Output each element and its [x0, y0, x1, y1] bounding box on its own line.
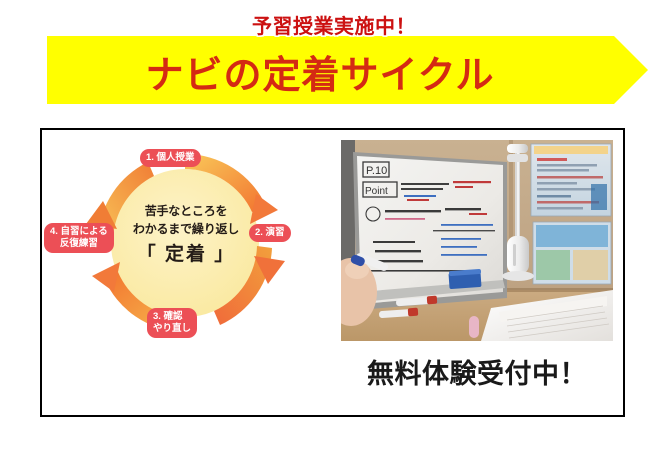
free-trial-caption: 無料体験受付中！ [341, 352, 613, 391]
svg-text:Point: Point [365, 186, 388, 197]
wall-poster-bottom [533, 222, 611, 284]
cycle-center-line2: わかるまで繰り返し [106, 220, 266, 238]
header-banner: 予習授業実施中！ ナビの定着サイクル [0, 0, 668, 120]
cycle-step-3-line2: やり直し [153, 323, 191, 334]
cycle-center-line1: 苦手なところを [106, 202, 266, 220]
cycle-step-3-line1: 3. 確認 [153, 311, 183, 322]
cycle-step-4-line1: 4. 自習による [50, 226, 108, 237]
whiteboard-eraser [448, 269, 481, 289]
cycle-step-4-label: 4. 自習による 反復練習 [44, 223, 114, 253]
cycle-step-4-line2: 反復練習 [60, 238, 98, 249]
headline-top-line: 予習授業実施中！ [0, 10, 668, 39]
svg-text:P.10: P.10 [366, 165, 387, 177]
wall-poster-top [531, 144, 611, 216]
cycle-step-2-label: 2. 演習 [249, 224, 291, 242]
cycle-center-keyword: 「 定着 」 [106, 239, 266, 266]
retention-cycle-diagram: 1. 個人授業 2. 演習 3. 確認 やり直し 4. 自習による 反復練習 苦… [44, 136, 326, 351]
page-title: ナビの定着サイクル [0, 44, 640, 99]
cycle-step-1-label: 1. 個人授業 [140, 149, 201, 167]
cycle-step-3-label: 3. 確認 やり直し [147, 308, 197, 338]
classroom-whiteboard-photo: P.10 Point [341, 140, 613, 341]
cycle-center-text: 苦手なところを わかるまで繰り返し 「 定着 」 [106, 202, 266, 266]
